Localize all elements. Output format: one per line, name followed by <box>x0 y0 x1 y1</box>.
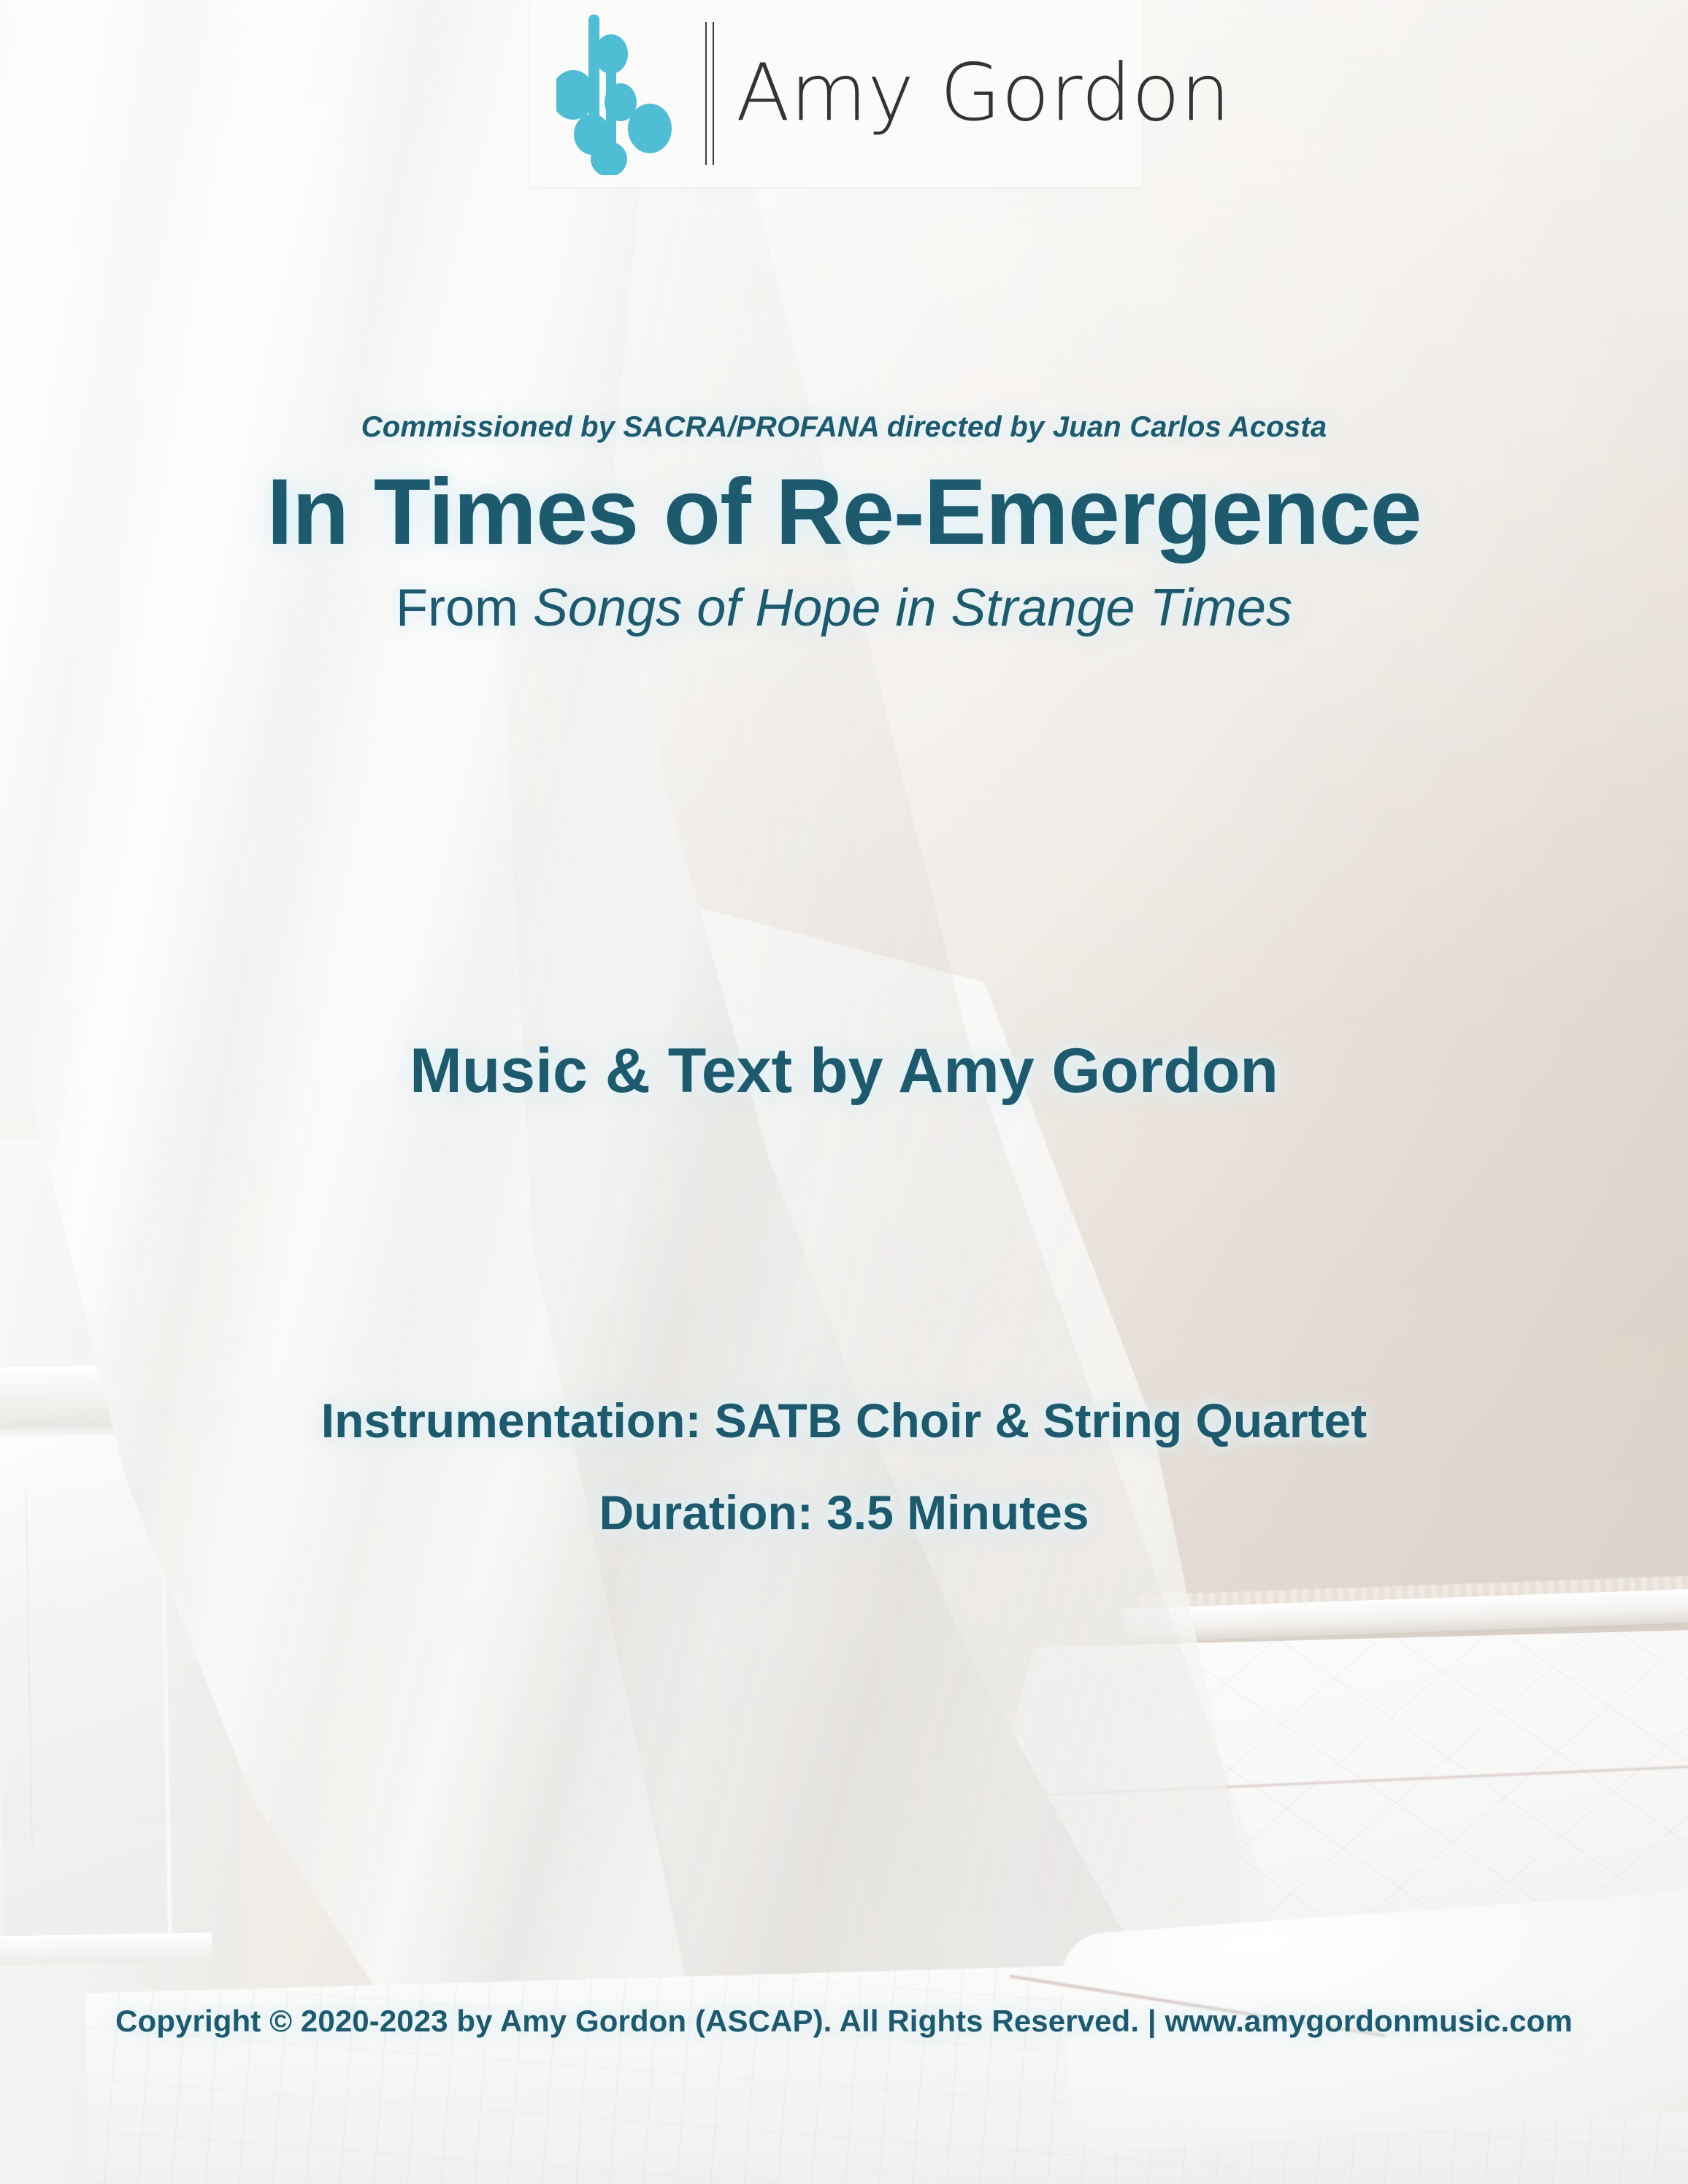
page-title: In Times of Re-Emergence <box>0 460 1688 564</box>
cover-text-block: Commissioned by SACRA/PROFANA directed b… <box>0 0 1688 2184</box>
subtitle-collection: Songs of Hope in Strange Times <box>533 579 1292 637</box>
copyright-footer: Copyright © 2020-2023 by Amy Gordon (ASC… <box>0 2004 1688 2039</box>
subtitle-prefix: From <box>396 579 533 637</box>
composer-credit: Music & Text by Amy Gordon <box>0 1035 1688 1107</box>
commission-line: Commissioned by SACRA/PROFANA directed b… <box>0 411 1688 444</box>
sheet-music-cover-page: Amy Gordon Commissioned by SACRA/PROFANA… <box>0 0 1688 2184</box>
subtitle: From Songs of Hope in Strange Times <box>0 577 1688 639</box>
duration-line: Duration: 3.5 Minutes <box>0 1485 1688 1540</box>
instrumentation-line: Instrumentation: SATB Choir & String Qua… <box>0 1393 1688 1448</box>
